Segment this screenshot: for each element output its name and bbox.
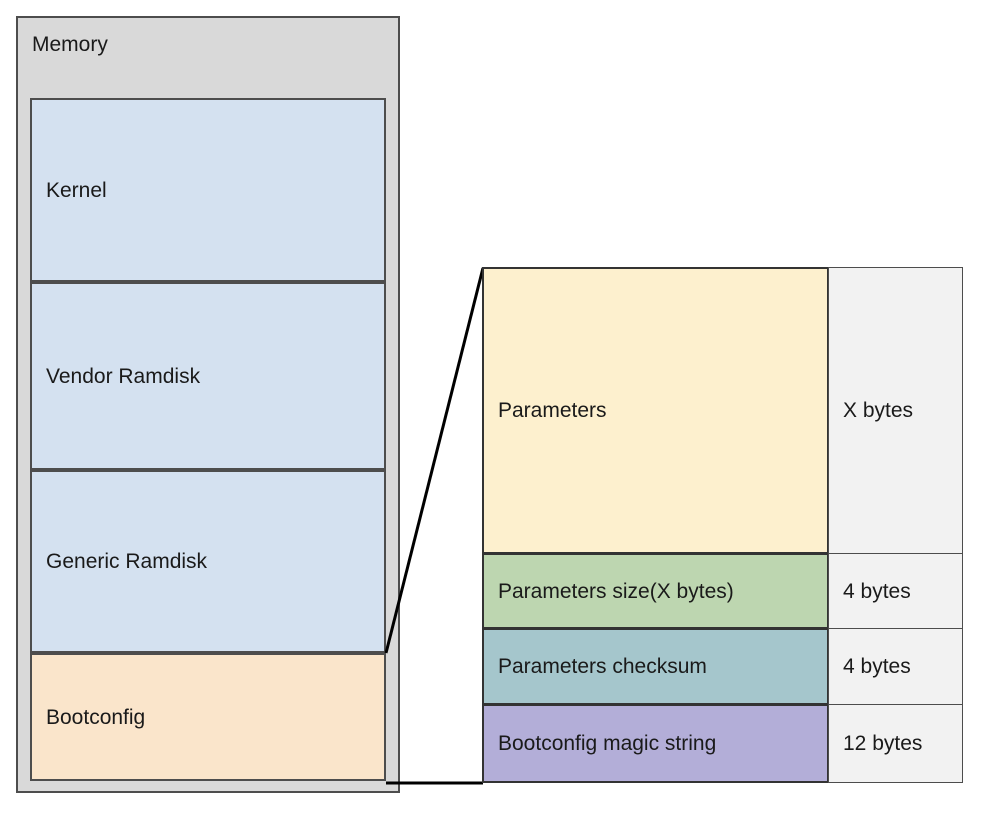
detail-row-name: Parameters size(X bytes) [484, 579, 734, 604]
memory-block-vendor-ramdisk: Vendor Ramdisk [30, 282, 386, 470]
memory-title: Memory [32, 32, 108, 57]
detail-row-size: 4 bytes [829, 654, 911, 679]
memory-block-label: Kernel [32, 178, 107, 203]
detail-row-name-cell: Parameters [482, 267, 829, 554]
memory-block-generic-ramdisk: Generic Ramdisk [30, 470, 386, 653]
detail-row: Parameters X bytes [482, 267, 964, 554]
memory-block-label: Generic Ramdisk [32, 549, 207, 574]
detail-row: Parameters checksum 4 bytes [482, 628, 964, 705]
detail-row-size-cell: 4 bytes [828, 553, 963, 629]
memory-block-bootconfig: Bootconfig [30, 653, 386, 781]
detail-row: Parameters size(X bytes) 4 bytes [482, 553, 964, 629]
diagram-canvas: Memory Kernel Vendor Ramdisk Generic Ram… [0, 0, 984, 814]
detail-row-size-cell: 4 bytes [828, 628, 963, 705]
detail-row-size: 12 bytes [829, 731, 922, 756]
bootconfig-detail-table: Parameters X bytes Parameters size(X byt… [482, 267, 964, 783]
memory-block-label: Vendor Ramdisk [32, 364, 200, 389]
detail-row-name: Bootconfig magic string [484, 731, 716, 756]
detail-row-name-cell: Parameters checksum [482, 628, 829, 705]
detail-row-size: X bytes [829, 398, 913, 423]
detail-row-name-cell: Parameters size(X bytes) [482, 553, 829, 629]
detail-row-name: Parameters checksum [484, 654, 707, 679]
detail-row-name: Parameters [484, 398, 607, 423]
detail-row: Bootconfig magic string 12 bytes [482, 704, 964, 783]
memory-block-kernel: Kernel [30, 98, 386, 282]
detail-row-size-cell: 12 bytes [828, 704, 963, 783]
detail-row-size: 4 bytes [829, 579, 911, 604]
memory-block-label: Bootconfig [32, 705, 145, 730]
detail-row-size-cell: X bytes [828, 267, 963, 554]
detail-row-name-cell: Bootconfig magic string [482, 704, 829, 783]
